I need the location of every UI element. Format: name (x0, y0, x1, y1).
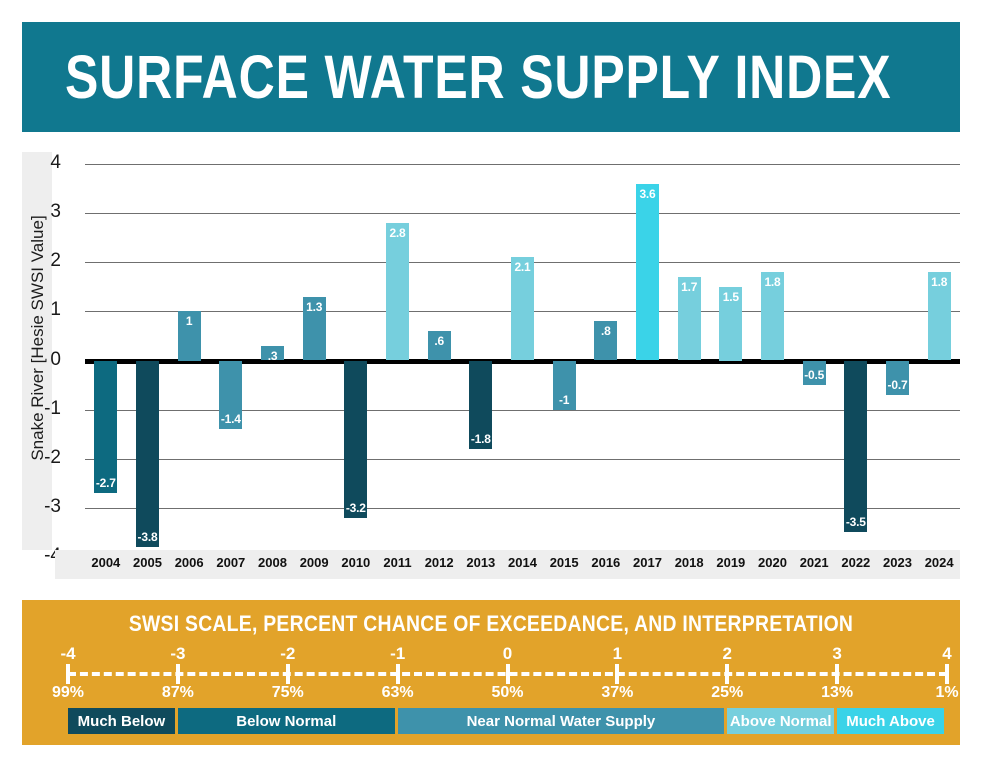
category-segment: Much Above (837, 708, 944, 734)
bar-value-label: 2.8 (378, 226, 418, 240)
x-axis-tick-label: 2006 (166, 555, 212, 570)
gridline (85, 164, 960, 165)
x-axis-tick-label: 2021 (791, 555, 837, 570)
x-axis-tick-label: 2005 (125, 555, 171, 570)
legend-panel: SWSI SCALE, PERCENT CHANCE OF EXCEEDANCE… (22, 600, 960, 745)
bar-value-label: -1.4 (211, 412, 251, 426)
x-axis-tick-label: 2011 (375, 555, 421, 570)
bar-value-label: 1.8 (753, 275, 793, 289)
bar-value-label: .8 (586, 324, 626, 338)
bar-value-label: -1 (544, 393, 584, 407)
scale-number: -4 (38, 644, 98, 664)
bar-value-label: 2.1 (503, 260, 543, 274)
x-axis-tick-label: 2008 (250, 555, 296, 570)
y-axis-tick-label: 2 (17, 250, 61, 272)
scale-tick-mark (396, 664, 400, 684)
y-axis-tick-label: -3 (17, 496, 61, 518)
bar-value-label: 1 (169, 314, 209, 328)
category-segment: Below Normal (178, 708, 395, 734)
scale-number: 2 (697, 644, 757, 664)
swsi-scale: -499%-387%-275%-163%050%137%225%313%41% (22, 644, 960, 696)
exceedance-percent: 99% (38, 684, 98, 702)
category-bar: Much BelowBelow NormalNear Normal Water … (22, 708, 960, 734)
exceedance-percent: 87% (148, 684, 208, 702)
bar-value-label: -0.5 (794, 368, 834, 382)
plot-canvas: 43210-1-2-3-4-2.7-3.81-1.4.31.3-3.22.8.6… (85, 164, 960, 557)
y-axis-tick-label: 4 (17, 152, 61, 174)
category-segment: Much Below (68, 708, 175, 734)
gridline (85, 459, 960, 460)
scale-number: -2 (258, 644, 318, 664)
category-segment: Near Normal Water Supply (398, 708, 725, 734)
bar (386, 223, 409, 361)
x-axis-tick-label: 2004 (83, 555, 129, 570)
bar (94, 361, 117, 494)
scale-tick-mark (506, 664, 510, 684)
bar-value-label: -3.8 (128, 530, 168, 544)
scale-tick-mark (66, 664, 70, 684)
x-axis-tick-label: 2024 (916, 555, 962, 570)
bar-value-label: -3.2 (336, 501, 376, 515)
bar-value-label: 3.6 (628, 187, 668, 201)
category-segment: Above Normal (727, 708, 834, 734)
y-axis-tick-label: -2 (17, 447, 61, 469)
gridline (85, 213, 960, 214)
scale-tick-mark (725, 664, 729, 684)
exceedance-percent: 37% (587, 684, 647, 702)
exceedance-percent: 50% (478, 684, 538, 702)
y-axis-tick-label: 3 (17, 201, 61, 223)
bar (844, 361, 867, 533)
bar-value-label: -3.5 (836, 515, 876, 529)
scale-number: -1 (368, 644, 428, 664)
bar (136, 361, 159, 548)
y-axis-tick-label: -1 (17, 398, 61, 420)
bar-value-label: 1.8 (919, 275, 959, 289)
scale-tick-mark (945, 664, 949, 684)
scale-number: 3 (807, 644, 867, 664)
x-axis-tick-label: 2019 (708, 555, 754, 570)
scale-number: -3 (148, 644, 208, 664)
x-axis-tick-label: 2016 (583, 555, 629, 570)
x-axis-tick-label: 2013 (458, 555, 504, 570)
bar (344, 361, 367, 518)
x-axis-tick-label: 2010 (333, 555, 379, 570)
exceedance-percent: 63% (368, 684, 428, 702)
legend-title: SWSI SCALE, PERCENT CHANCE OF EXCEEDANCE… (78, 611, 903, 637)
exceedance-percent: 75% (258, 684, 318, 702)
bar-value-label: 1.3 (294, 300, 334, 314)
x-axis-tick-label: 2014 (500, 555, 546, 570)
bar-value-label: -1.8 (461, 432, 501, 446)
x-axis-tick-label: 2017 (625, 555, 671, 570)
y-axis-tick-label: 1 (17, 299, 61, 321)
bar-value-label: -2.7 (86, 476, 126, 490)
bar-value-label: .3 (253, 349, 293, 363)
scale-tick-mark (176, 664, 180, 684)
x-axis-tick-label: 2018 (666, 555, 712, 570)
x-axis-tick-label: 2009 (291, 555, 337, 570)
exceedance-percent: 13% (807, 684, 867, 702)
bar-value-label: -0.7 (878, 378, 918, 392)
bar-value-label: 1.5 (711, 290, 751, 304)
scale-number: 1 (587, 644, 647, 664)
scale-tick-mark (835, 664, 839, 684)
bar-value-label: .6 (419, 334, 459, 348)
x-axis-tick-label: 2007 (208, 555, 254, 570)
x-axis-tick-label: 2023 (875, 555, 921, 570)
bar (636, 184, 659, 361)
swsi-infographic: SURFACE WATER SUPPLY INDEX Snake River [… (0, 0, 984, 765)
scale-number: 4 (917, 644, 977, 664)
title-banner: SURFACE WATER SUPPLY INDEX (22, 22, 960, 132)
scale-tick-mark (286, 664, 290, 684)
x-axis-tick-label: 2015 (541, 555, 587, 570)
exceedance-percent: 1% (917, 684, 977, 702)
x-axis-tick-label: 2020 (750, 555, 796, 570)
exceedance-percent: 25% (697, 684, 757, 702)
gridline (85, 410, 960, 411)
page-title: SURFACE WATER SUPPLY INDEX (65, 47, 891, 108)
scale-number: 0 (478, 644, 538, 664)
scale-tick-mark (615, 664, 619, 684)
x-axis-tick-label: 2022 (833, 555, 879, 570)
x-axis-tick-label: 2012 (416, 555, 462, 570)
gridline (85, 508, 960, 509)
y-axis-tick-label: 0 (17, 349, 61, 371)
chart-area: Snake River [Hesie SWSI Value] 43210-1-2… (22, 150, 960, 580)
bar-value-label: 1.7 (669, 280, 709, 294)
